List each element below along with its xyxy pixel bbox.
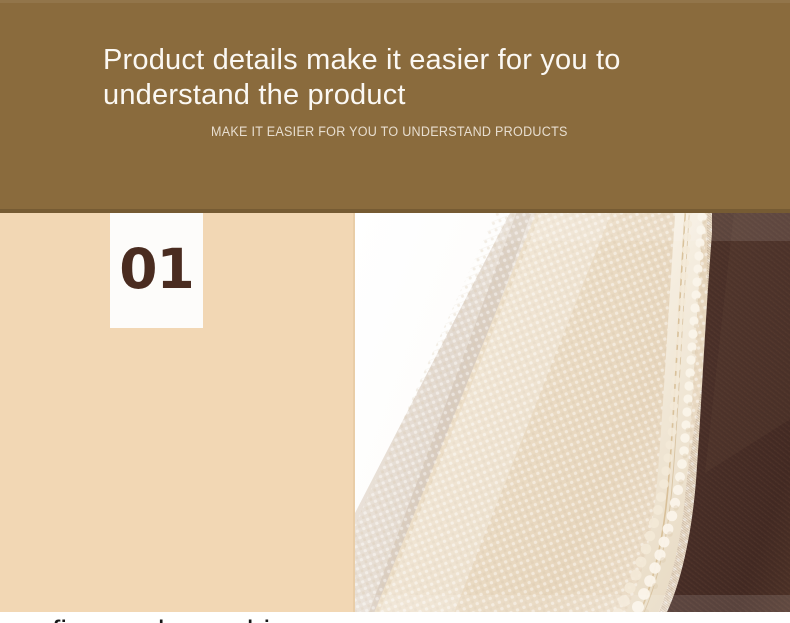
feature-section: 01 fine workmanship Made of high-quality… xyxy=(0,213,790,623)
feature-number: 01 xyxy=(119,242,194,297)
fabric-closeup-photo xyxy=(355,213,790,623)
page-title: Product details make it easier for you t… xyxy=(103,43,703,113)
feature-number-badge: 01 xyxy=(110,213,203,328)
feature-title: fine workmanship xyxy=(52,615,287,623)
page-subtitle: MAKE IT EASIER FOR YOU TO UNDERSTAND PRO… xyxy=(211,124,568,139)
product-detail-banner: Product details make it easier for you t… xyxy=(0,0,790,623)
header-band: Product details make it easier for you t… xyxy=(0,0,790,213)
